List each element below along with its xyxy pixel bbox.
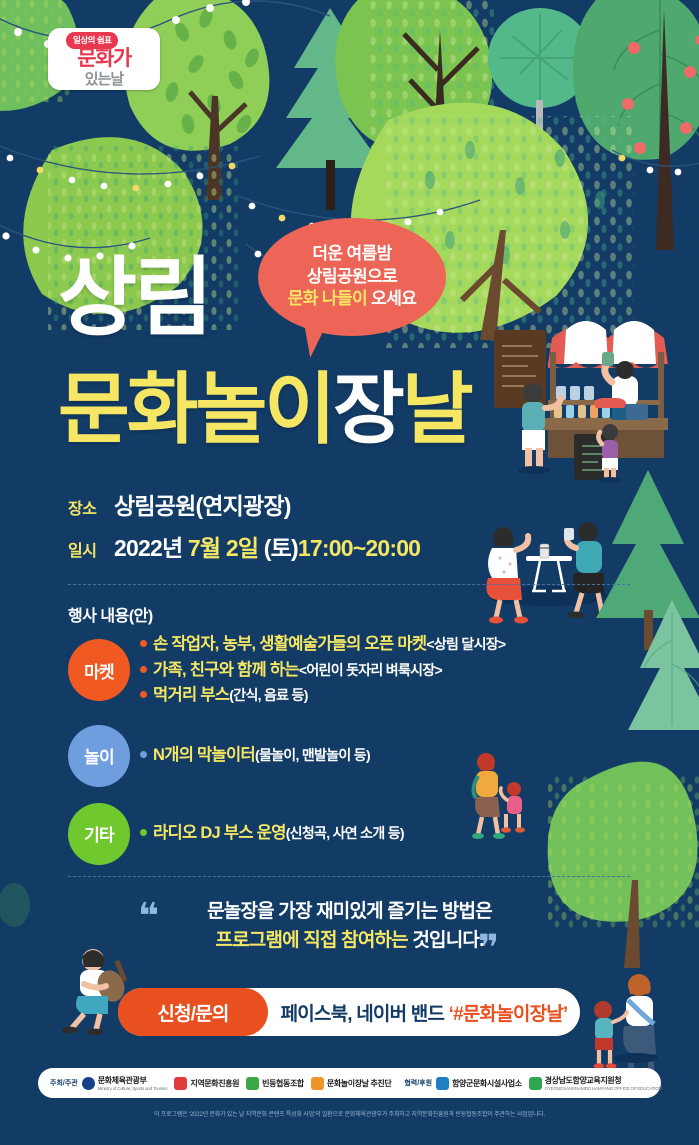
program-item-main: 가족, 친구와 함께 하는 — [153, 658, 299, 684]
page-title-line-1: 상림 — [58, 258, 210, 340]
title-part-nal: 날 — [402, 365, 471, 453]
disclaimer-text: 이 프로그램은 ‘2022년 문화가 있는 날 지역문화 콘텐츠 특성화 사업’… — [0, 1109, 699, 1118]
host-label: 주최/주관 — [50, 1078, 78, 1088]
sponsor-local-culture: 지역문화진흥원 — [174, 1077, 239, 1090]
program-group-market: 마켓 손 작업자, 농부, 생활예술가들의 오픈 마켓 <상림 달시장> 가족,… — [68, 632, 638, 709]
logo-sub-text: 있는날 — [48, 68, 160, 89]
venue-label: 장소 — [68, 495, 114, 519]
quote-block: 문놀장을 가장 재미있게 즐기는 방법은 프로그램에 직접 참여하는 것입니다. — [0, 898, 699, 955]
local-culture-logo-icon — [174, 1077, 187, 1090]
supporter-name: 함양군문화시설사업소 — [452, 1078, 522, 1089]
coop-logo-icon — [246, 1077, 259, 1090]
contact-tag: 신청/문의 — [118, 988, 268, 1036]
quote-line-2: 프로그램에 직접 참여하는 것입니다. — [0, 927, 699, 956]
bullet-icon — [140, 691, 147, 698]
datetime-value: 2022년 7월 2일 (토)17:00~20:00 — [114, 529, 420, 563]
bubble-line-2: 상림공원으로 — [307, 266, 397, 288]
sponsor-bar: 주최/주관 문화체육관광부Ministry of Culture, Sports… — [38, 1068, 661, 1098]
program-item-sub: (간식, 음료 등) — [229, 685, 307, 707]
program-item-sub: (신청곡, 사연 소개 등) — [286, 823, 404, 845]
bullet-icon — [140, 829, 147, 836]
event-poster: 일상의 쉼표 문화가 있는날 더운 여름밤 상림공원으로 문화 나들이 오세요 … — [0, 0, 699, 1145]
bullet-icon — [140, 751, 147, 758]
venue-row: 장소 상림공원(연지광장) — [68, 487, 420, 521]
ministry-logo-icon — [82, 1077, 95, 1090]
bullet-icon — [140, 640, 147, 647]
contact-channels: 페이스북, 네이버 밴드 ‘#문화놀이장날’ — [268, 999, 580, 1026]
bullet-icon — [140, 666, 147, 673]
education-logo-icon — [529, 1077, 542, 1090]
program-item-sub: <상림 달시장> — [426, 634, 505, 656]
speech-bubble: 더운 여름밤 상림공원으로 문화 나들이 오세요 — [258, 218, 446, 336]
logo-main-text: 문화가 — [48, 48, 160, 69]
background-illustration — [0, 0, 699, 1145]
program-item: N개의 막놀이터(물놀이, 맨발놀이 등) — [140, 743, 370, 769]
sponsor-ministry: 문화체육관광부Ministry of Culture, Sports and T… — [82, 1075, 168, 1091]
sponsor-name: 빈둥협동조합 — [262, 1078, 304, 1089]
divider-top — [68, 584, 630, 585]
category-badge-play: 놀이 — [68, 725, 130, 787]
supporter-hamyang-culture: 함양군문화시설사업소 — [436, 1077, 522, 1090]
program-item-main: N개의 막놀이터 — [153, 743, 255, 769]
event-info: 장소 상림공원(연지광장) 일시 2022년 7월 2일 (토)17:00~20… — [68, 487, 420, 571]
hamyang-logo-icon — [436, 1077, 449, 1090]
culture-day-logo: 일상의 쉼표 문화가 있는날 — [48, 28, 160, 90]
sponsor-name: 지역문화진흥원 — [190, 1078, 239, 1089]
bubble-line-3: 문화 나들이 오세요 — [288, 288, 417, 310]
category-badge-etc: 기타 — [68, 803, 130, 865]
program-item: 가족, 친구와 함께 하는 <어린이 돗자리 벼룩시장> — [140, 658, 505, 684]
sponsor-bindung-coop: 빈둥협동조합 — [246, 1077, 304, 1090]
program-list: 마켓 손 작업자, 농부, 생활예술가들의 오픈 마켓 <상림 달시장> 가족,… — [68, 632, 638, 879]
program-group-play: 놀이 N개의 막놀이터(물놀이, 맨발놀이 등) — [68, 725, 638, 787]
program-item-sub: (물놀이, 맨발놀이 등) — [255, 745, 370, 767]
program-item-main: 라디오 DJ 부스 운영 — [153, 821, 286, 847]
program-item-main: 먹거리 부스 — [153, 683, 229, 709]
hashtag: ‘#문화놀이장날’ — [449, 1004, 568, 1025]
program-group-etc: 기타 라디오 DJ 부스 운영(신청곡, 사연 소개 등) — [68, 803, 638, 865]
team-logo-icon — [311, 1077, 324, 1090]
sponsor-name: 문화체육관광부Ministry of Culture, Sports and T… — [98, 1075, 168, 1091]
datetime-label: 일시 — [68, 537, 114, 561]
sponsor-name: 문화놀이장날 추진단 — [327, 1078, 391, 1089]
program-item: 먹거리 부스(간식, 음료 등) — [140, 683, 505, 709]
venue-value: 상림공원(연지광장) — [114, 487, 291, 521]
program-item: 라디오 DJ 부스 운영(신청곡, 사연 소개 등) — [140, 821, 404, 847]
support-label: 협력/후원 — [404, 1078, 432, 1088]
program-items-etc: 라디오 DJ 부스 운영(신청곡, 사연 소개 등) — [140, 821, 404, 847]
sponsor-promotion-team: 문화놀이장날 추진단 — [311, 1077, 391, 1090]
datetime-row: 일시 2022년 7월 2일 (토)17:00~20:00 — [68, 529, 420, 563]
supporter-education-office: 경상남도함양교육지원청GYEONGSANGNAMDO HAMYANG OFFIC… — [529, 1075, 662, 1091]
quote-line-1: 문놀장을 가장 재미있게 즐기는 방법은 — [0, 898, 699, 927]
program-item-main: 손 작업자, 농부, 생활예술가들의 오픈 마켓 — [153, 632, 426, 658]
contact-bar[interactable]: 신청/문의 페이스북, 네이버 밴드 ‘#문화놀이장날’ — [118, 988, 580, 1036]
category-badge-market: 마켓 — [68, 639, 130, 701]
program-heading: 행사 내용(안) — [68, 602, 153, 626]
program-item-sub: <어린이 돗자리 벼룩시장> — [299, 660, 442, 682]
supporter-name: 경상남도함양교육지원청GYEONGSANGNAMDO HAMYANG OFFIC… — [545, 1075, 662, 1091]
program-items-play: N개의 막놀이터(물놀이, 맨발놀이 등) — [140, 743, 370, 769]
page-title-line-2: 문화놀이장날 — [58, 372, 471, 446]
title-part-jang: 장 — [333, 365, 402, 453]
title-part-munhwanori: 문화놀이 — [58, 365, 333, 453]
program-items-market: 손 작업자, 농부, 생활예술가들의 오픈 마켓 <상림 달시장> 가족, 친구… — [140, 632, 505, 709]
bubble-line-1: 더운 여름밤 — [312, 243, 391, 265]
program-item: 손 작업자, 농부, 생활예술가들의 오픈 마켓 <상림 달시장> — [140, 632, 505, 658]
